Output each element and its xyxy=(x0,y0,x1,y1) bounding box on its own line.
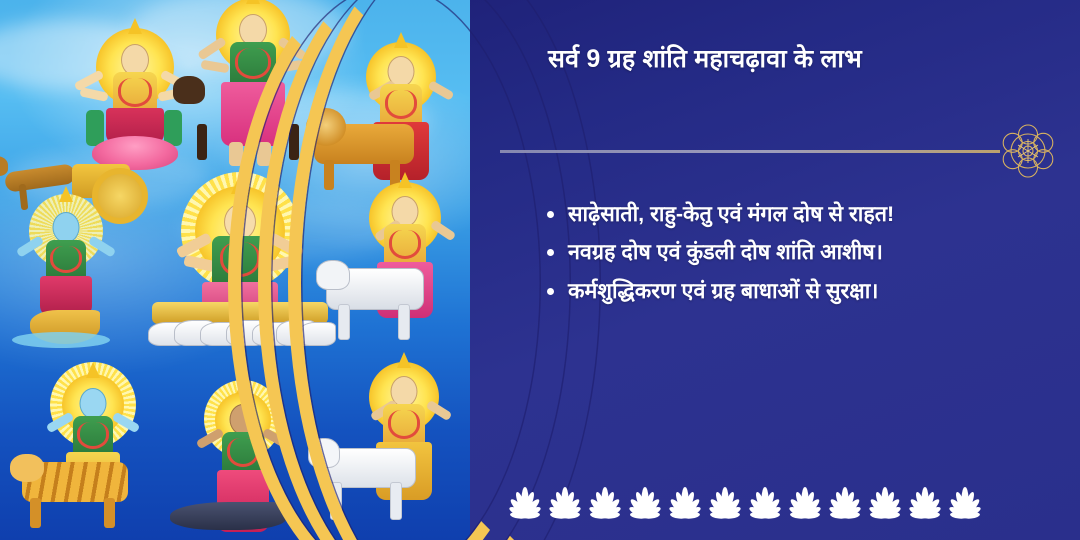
bullet-dot-icon xyxy=(547,288,554,295)
gold-divider-line xyxy=(500,150,1000,153)
list-item: नवग्रह दोष एवं कुंडली दोष शांति आशीष। xyxy=(538,236,1038,268)
content-panel: सर्व 9 ग्रह शांति महाचढ़ावा के लाभ xyxy=(500,0,1080,540)
list-item-text: नवग्रह दोष एवं कुंडली दोष शांति आशीष। xyxy=(568,240,883,264)
deity-ketu xyxy=(6,188,126,348)
list-item: कर्मशुद्धिकरण एवं ग्रह बाधाओं से सुरक्षा… xyxy=(538,275,1038,307)
list-item-text: साढ़ेसाती, राहु-केतु एवं मंगल दोष से राह… xyxy=(568,202,894,226)
page-title: सर्व 9 ग्रह शांति महाचढ़ावा के लाभ xyxy=(548,42,968,78)
list-item-text: कर्मशुद्धिकरण एवं ग्रह बाधाओं से सुरक्षा… xyxy=(568,279,878,303)
bullet-dot-icon xyxy=(547,249,554,256)
lotus-border-pattern xyxy=(505,486,995,524)
mandala-rosette-ornament xyxy=(998,122,1058,180)
list-item: साढ़ेसाती, राहु-केतु एवं मंगल दोष से राह… xyxy=(538,198,1038,230)
crow-vahana xyxy=(170,502,286,530)
navagraha-promo-banner: सर्व 9 ग्रह शांति महाचढ़ावा के लाभ xyxy=(0,0,1080,540)
deity-mangal-mars xyxy=(28,358,158,533)
benefits-list: साढ़ेसाती, राहु-केतु एवं मंगल दोष से राह… xyxy=(538,198,1038,313)
bullet-dot-icon xyxy=(547,211,554,218)
